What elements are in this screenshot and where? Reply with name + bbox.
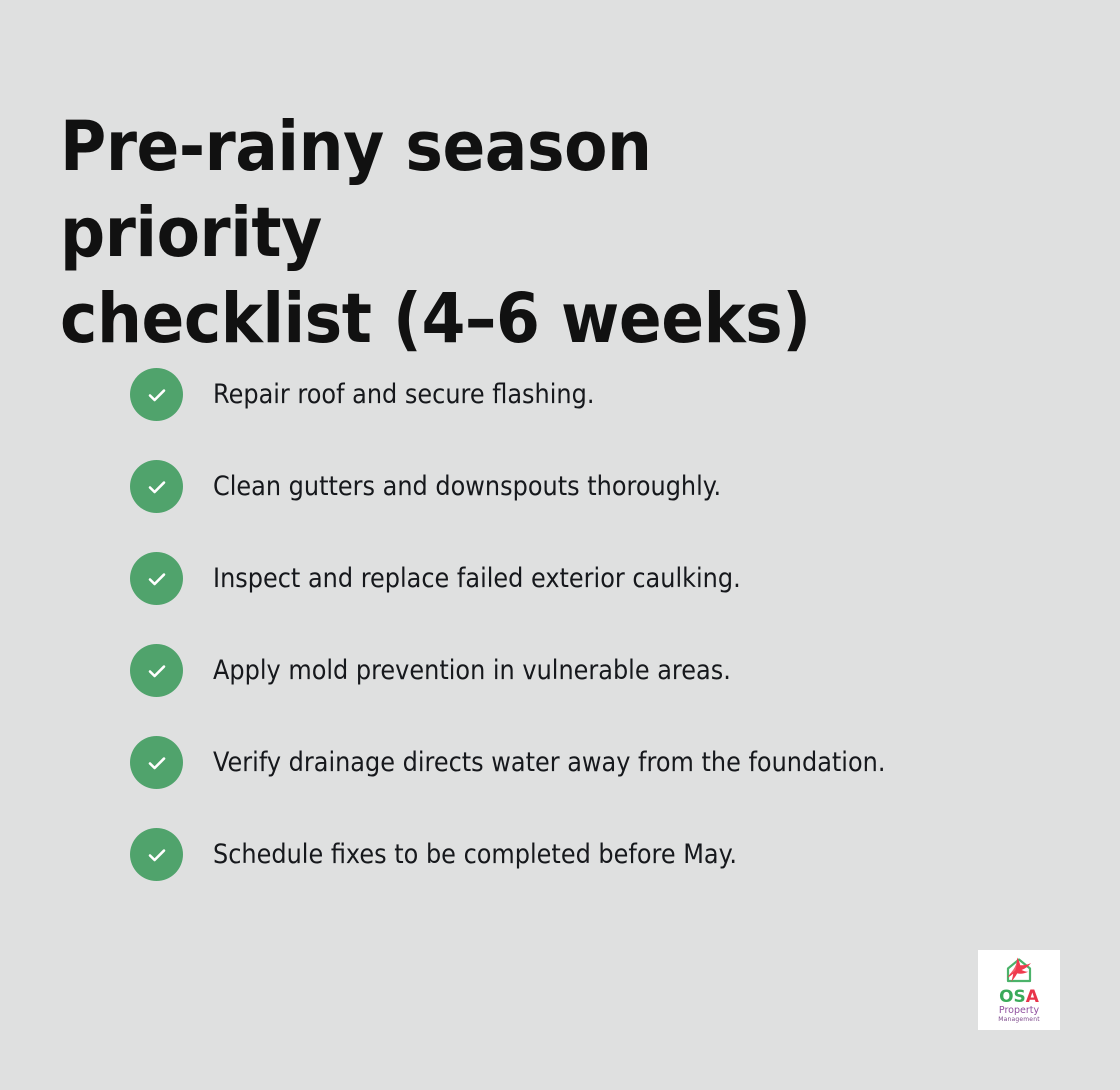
logo-tagline-property: Property [998, 1006, 1040, 1016]
list-item-label: Schedule fixes to be completed before Ma… [213, 838, 737, 872]
list-item-label: Verify drainage directs water away from … [213, 746, 885, 780]
slide-canvas: Pre-rainy season priority checklist (4–6… [0, 0, 1120, 1090]
list-item: Verify drainage directs water away from … [130, 736, 1090, 789]
list-item: Repair roof and secure flashing. [130, 368, 1090, 421]
check-circle-icon [130, 368, 183, 421]
check-circle-icon [130, 828, 183, 881]
check-circle-icon [130, 644, 183, 697]
list-item: Schedule fixes to be completed before Ma… [130, 828, 1090, 881]
check-circle-icon [130, 552, 183, 605]
list-item-label: Repair roof and secure flashing. [213, 378, 594, 412]
logo-tagline-management: Management [998, 1016, 1040, 1023]
house-with-bird-logo-icon [995, 954, 1043, 988]
check-circle-icon [130, 460, 183, 513]
list-item: Clean gutters and downspouts thoroughly. [130, 460, 1090, 513]
checklist: Repair roof and secure flashing. Clean g… [130, 368, 1090, 881]
list-item-label: Inspect and replace failed exterior caul… [213, 562, 741, 596]
list-item-label: Apply mold prevention in vulnerable area… [213, 654, 731, 688]
list-item-label: Clean gutters and downspouts thoroughly. [213, 470, 721, 504]
check-circle-icon [130, 736, 183, 789]
logo-letter-s: S [1014, 987, 1026, 1007]
logo-letter-a: A [1026, 987, 1039, 1007]
brand-logo: OSA Property Management [978, 950, 1060, 1030]
logo-brand-name: OSA [998, 989, 1040, 1006]
list-item: Inspect and replace failed exterior caul… [130, 552, 1090, 605]
logo-wordmark: OSA Property Management [998, 989, 1040, 1023]
page-title: Pre-rainy season priority checklist (4–6… [60, 104, 865, 362]
logo-letter-o: O [999, 987, 1013, 1007]
list-item: Apply mold prevention in vulnerable area… [130, 644, 1090, 697]
